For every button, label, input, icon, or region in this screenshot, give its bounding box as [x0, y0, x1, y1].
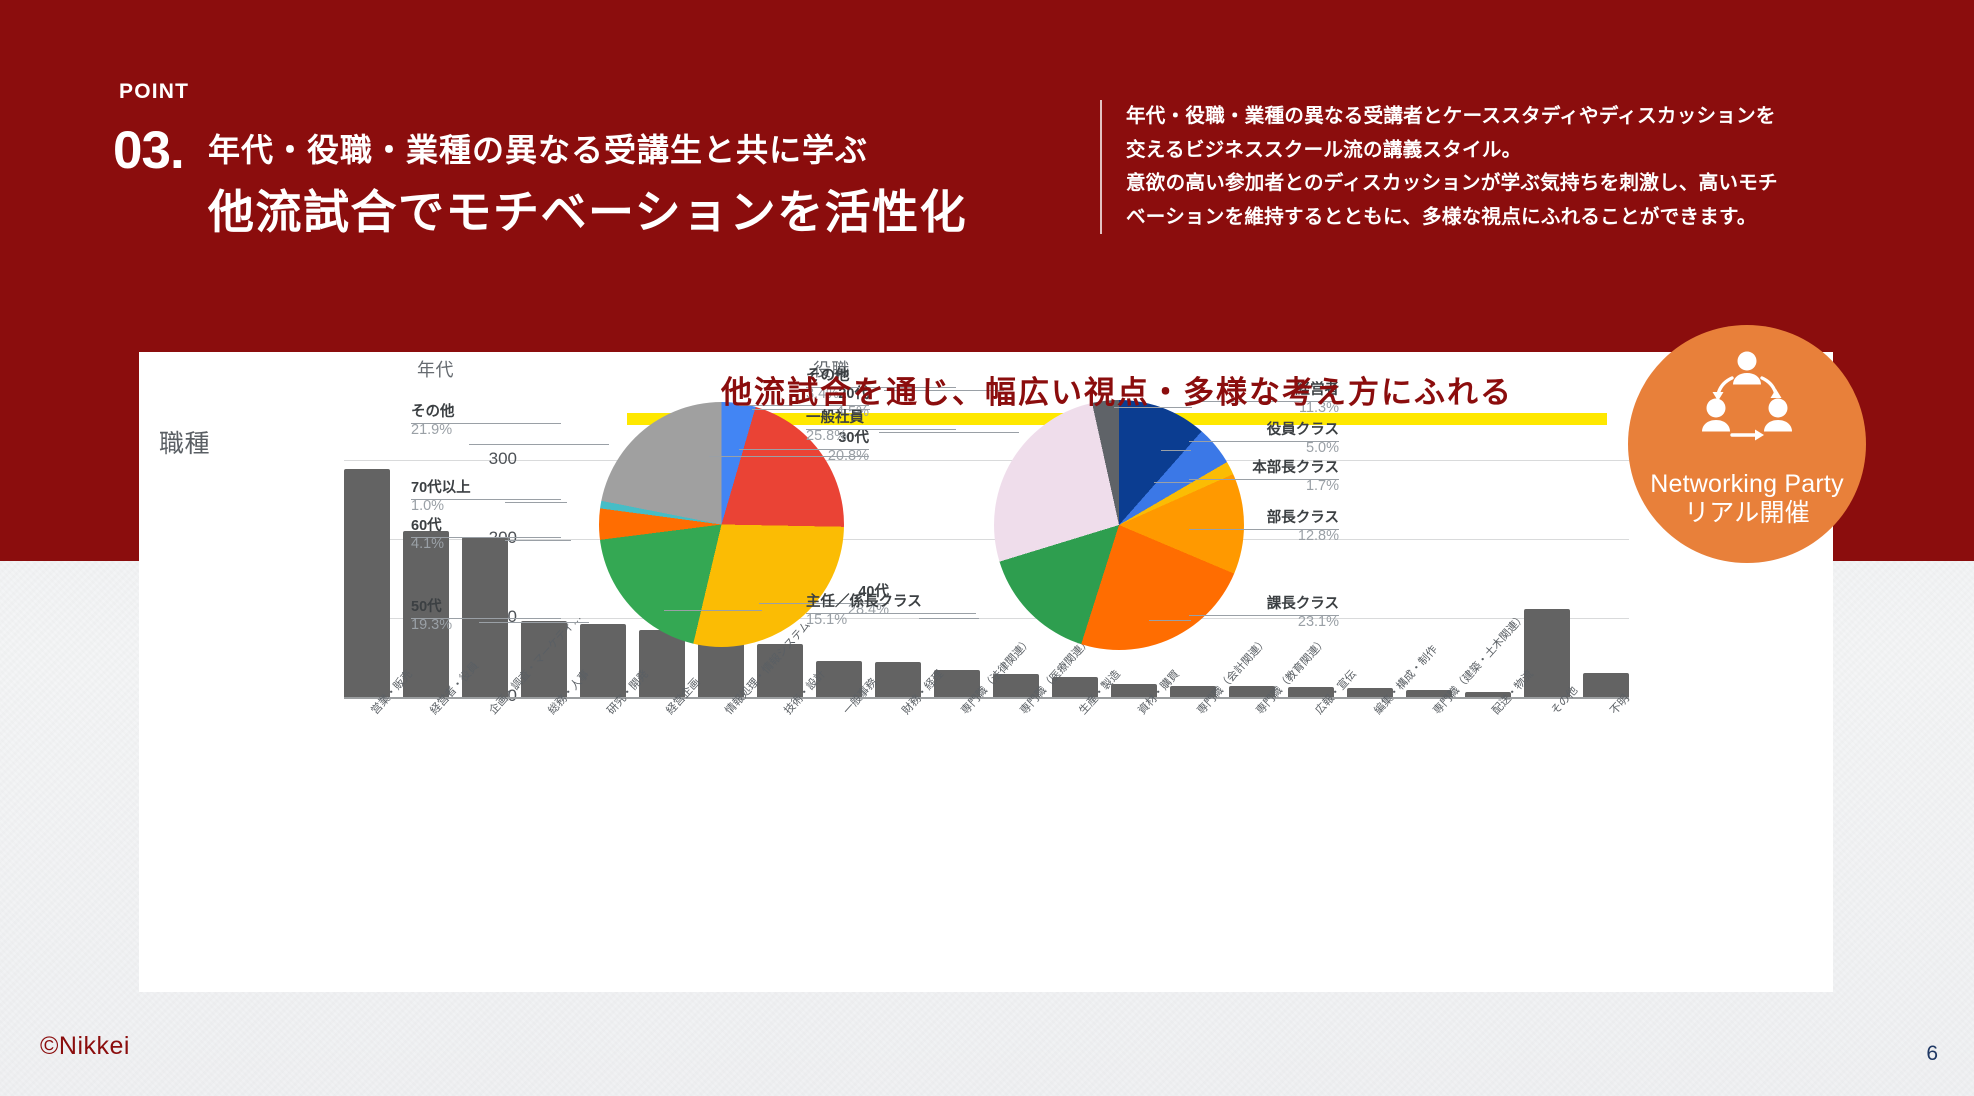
pie-label-name: 課長クラス	[1189, 596, 1339, 614]
pie-leader-line	[469, 444, 609, 445]
bar-slot	[875, 460, 921, 697]
pie-label-value: 15.1%	[806, 612, 976, 630]
x-label-slot: 総務・人事	[521, 701, 567, 821]
pie-label-name: 本部長クラス	[1189, 460, 1339, 478]
networking-people-icon	[1699, 351, 1795, 448]
pie-label-underline	[411, 499, 561, 500]
pie-label-underline	[411, 618, 561, 619]
content-card: 他流試合を通じ、幅広い視点・多様な考え方にふれる 職種 年代 役職 010020…	[139, 352, 1833, 992]
pie-label-value: 5.0%	[1189, 440, 1339, 458]
x-label-slot: 企画・調査・マーケティ…	[462, 701, 508, 821]
card-title: 他流試合を通じ、幅広い視点・多様な考え方にふれる	[627, 367, 1607, 412]
pie-label-name: 50代	[411, 599, 561, 617]
pie-callout-label: 役員クラス5.0%	[1189, 422, 1339, 457]
x-label-slot: 情報処理・情報システム	[698, 701, 744, 821]
pie-leader-line	[505, 540, 571, 541]
bar[interactable]	[639, 630, 685, 697]
pie-label-underline	[1189, 441, 1339, 442]
pie-leader-line	[1149, 620, 1191, 621]
pie-leader-line	[505, 502, 567, 503]
pie-label-value: 1.0%	[411, 498, 561, 516]
pie-label-underline	[806, 613, 976, 614]
pie1-title: 年代	[417, 356, 454, 382]
pie-callout-label: 課長クラス23.1%	[1189, 596, 1339, 631]
x-label-slot: 専門職（医療関連）	[993, 701, 1039, 821]
pie-label-value: 12.8%	[1189, 528, 1339, 546]
pie-label-value: 25.8%	[806, 428, 956, 446]
pie-label-name: 部長クラス	[1189, 510, 1339, 528]
pie-label-underline	[1189, 615, 1339, 616]
pie-label-name: 一般社員	[806, 410, 956, 428]
x-label-slot: 不明	[1583, 701, 1629, 821]
bar-chart: 0100200300 営業・販売経営者・役員企画・調査・マーケティ…総務・人事研…	[159, 452, 1819, 972]
card-title-block: 他流試合を通じ、幅広い視点・多様な考え方にふれる	[627, 367, 1607, 412]
pie-leader-line	[879, 432, 1019, 433]
pie-label-underline	[411, 537, 561, 538]
pie-callout-label: 部長クラス12.8%	[1189, 510, 1339, 545]
pie-leader-line	[919, 618, 979, 619]
bar-slot	[1583, 460, 1629, 697]
x-label-slot: 一般事務	[816, 701, 862, 821]
pie-label-underline	[739, 449, 869, 450]
pie-label-name: 60代	[411, 518, 561, 536]
networking-party-badge: Networking Party リアル開催	[1628, 325, 1866, 563]
description-line-4: ベーションを維持するとともに、多様な視点にふれることができます。	[1126, 201, 1840, 235]
pie-callout-label: 50代19.3%	[411, 599, 561, 634]
copyright: ©Nikkei	[40, 1032, 130, 1061]
badge-line-1: Networking Party	[1650, 470, 1844, 498]
pie-label-value: 21.9%	[411, 422, 561, 440]
pie-callout-label: 本部長クラス1.7%	[1189, 460, 1339, 495]
pie-label-value: 4.1%	[411, 536, 561, 554]
point-label: POINT	[119, 80, 189, 104]
x-label-slot: 専門職（建築・土木関連）	[1406, 701, 1452, 821]
pie-leader-line	[709, 456, 869, 457]
x-label-slot: 編集・構成・制作	[1347, 701, 1393, 821]
pie-label-name: 役員クラス	[1189, 422, 1339, 440]
point-number: 03.	[113, 124, 184, 177]
pie-label-name: 主任／係長クラス	[806, 594, 976, 612]
x-label-slot: その他	[1524, 701, 1570, 821]
x-label-slot: 専門職（会計関連）	[1170, 701, 1216, 821]
bar-slot	[344, 460, 390, 697]
description-line-1: 年代・役職・業種の異なる受講者とケーススタディやディスカッションを	[1126, 100, 1840, 134]
bar-x-axis-labels: 営業・販売経営者・役員企画・調査・マーケティ…総務・人事研究・開発経営企画情報処…	[344, 701, 1629, 821]
bar[interactable]	[344, 469, 390, 697]
pie-label-underline	[1189, 479, 1339, 480]
x-label-slot: 配送・物流	[1465, 701, 1511, 821]
x-label-slot: 専門職（法律関連）	[934, 701, 980, 821]
pie-label-value: 19.3%	[411, 617, 561, 635]
description-line-2: 交えるビジネススクール流の講義スタイル。	[1126, 134, 1840, 168]
x-label-slot: 経営企画	[639, 701, 685, 821]
page-number: 6	[1926, 1042, 1938, 1066]
bar-slot	[1347, 460, 1393, 697]
bar-slot	[1524, 460, 1570, 697]
badge-line-2: リアル開催	[1684, 498, 1810, 529]
pie-label-name: その他	[411, 404, 561, 422]
x-label-slot: 技術・設計	[757, 701, 803, 821]
x-label-slot: 経営者・役員	[403, 701, 449, 821]
x-label-slot: 広報・宣伝	[1288, 701, 1334, 821]
bar[interactable]	[1524, 609, 1570, 697]
header-subtitle: 年代・役職・業種の異なる受講生と共に学ぶ	[208, 125, 868, 171]
pie-label-underline	[1189, 529, 1339, 530]
pie-label-value: 1.7%	[1189, 478, 1339, 496]
description-line-3: 意欲の高い参加者とのディスカッションが学ぶ気持ちを刺激し、高いモチ	[1126, 167, 1840, 201]
header-description: 年代・役職・業種の異なる受講者とケーススタディやディスカッションを 交えるビジネ…	[1100, 100, 1840, 234]
pie-leader-line	[664, 610, 762, 611]
pie-leader-line	[1161, 450, 1191, 451]
x-label-slot: 資材・購買	[1111, 701, 1157, 821]
pie-label-name: 70代以上	[411, 480, 561, 498]
x-label-slot: 研究・開発	[580, 701, 626, 821]
pie-label-value: 23.1%	[1189, 614, 1339, 632]
pie-callout-label: 主任／係長クラス15.1%	[806, 594, 976, 629]
x-label-slot: 生産・製造	[1052, 701, 1098, 821]
pie-callout-label: 60代4.1%	[411, 518, 561, 553]
pie-callout-label: 70代以上1.0%	[411, 480, 561, 515]
pie-label-underline	[806, 429, 956, 430]
pie-label-underline	[411, 423, 561, 424]
header-title: 他流試合でモチベーションを活性化	[208, 176, 967, 242]
pie-leader-line	[1154, 482, 1192, 483]
x-label-slot: 専門職（教育関連）	[1229, 701, 1275, 821]
bar-slot	[934, 460, 980, 697]
x-label-slot: 営業・販売	[344, 701, 390, 821]
pie-leader-line	[479, 622, 589, 623]
x-label-slot: 財務・経理	[875, 701, 921, 821]
pie-callout-label: その他21.9%	[411, 404, 561, 439]
pie-callout-label: 一般社員25.8%	[806, 410, 956, 445]
bar[interactable]	[580, 624, 626, 697]
